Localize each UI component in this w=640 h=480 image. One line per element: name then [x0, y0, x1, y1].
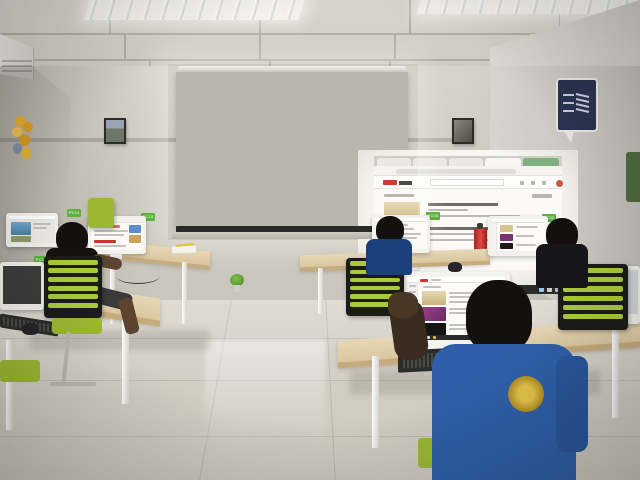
- ceiling-light-left: [84, 0, 308, 20]
- monitor-left-front: [0, 262, 44, 310]
- youtube-logo-icon[interactable]: [383, 180, 397, 185]
- browser-tab[interactable]: [377, 158, 411, 166]
- mouse-left-front[interactable]: [22, 323, 39, 335]
- browser-tab-bar: [374, 156, 562, 166]
- shoulder: [556, 356, 588, 452]
- browser-tab-active[interactable]: [485, 158, 521, 166]
- video-thumbnail: [422, 291, 446, 305]
- browser-tab[interactable]: [449, 158, 483, 166]
- filter-button: [532, 194, 552, 198]
- screen-left-back[interactable]: [9, 216, 55, 243]
- browser-tab[interactable]: [413, 158, 447, 166]
- youtube-header: [374, 176, 562, 189]
- browser-tab-highlighted[interactable]: [523, 158, 559, 166]
- potted-plant: [230, 274, 244, 292]
- monitor-left-back: [6, 213, 58, 247]
- projector-screen: [176, 72, 408, 228]
- youtube-search-input[interactable]: [430, 179, 504, 186]
- pc-tag-left-back: PC14: [67, 209, 81, 217]
- screen-left-front[interactable]: [3, 266, 41, 304]
- flower-wall-decor: [10, 114, 36, 162]
- chair-left-low-seat[interactable]: [0, 360, 40, 382]
- floor-reflection: [205, 340, 325, 450]
- classroom-photo: PC14 PC15 PC16: [0, 0, 640, 480]
- shirt-badge: [508, 376, 544, 412]
- avatar[interactable]: [556, 180, 563, 187]
- video-thumbnail: [422, 307, 446, 321]
- framed-picture-left: [104, 118, 126, 144]
- mouse-right-back[interactable]: [448, 262, 462, 272]
- speech-bubble-wall-sign: [556, 78, 598, 132]
- cable: [116, 268, 160, 284]
- green-wall-panel: [626, 152, 640, 202]
- hand: [388, 292, 418, 318]
- browser-address-bar[interactable]: [374, 166, 562, 176]
- framed-picture-right: [452, 118, 474, 144]
